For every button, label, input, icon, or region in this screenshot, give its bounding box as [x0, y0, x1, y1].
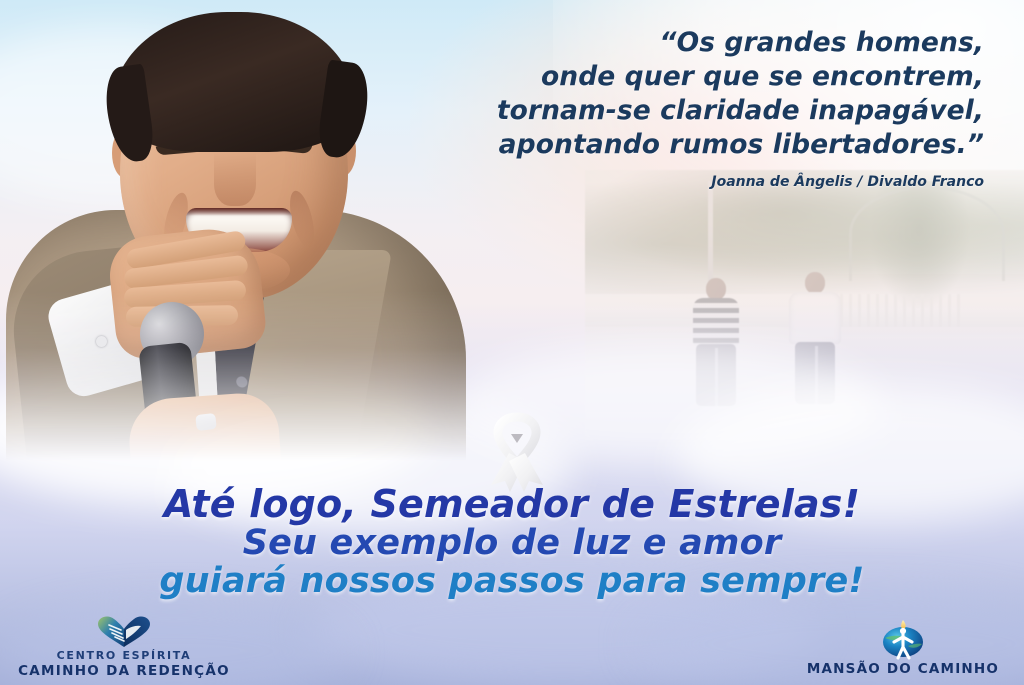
logo-right-line-1: MANSÃO DO CAMINHO [788, 661, 1018, 677]
logo-centro-espirita[interactable]: CENTRO ESPÍRITA CAMINHO DA REDENÇÃO [4, 614, 244, 679]
logo-left-line-2: CAMINHO DA REDENÇÃO [4, 663, 244, 679]
quote-line-1: “Os grandes homens, [424, 26, 984, 60]
quote-block: “Os grandes homens, onde quer que se enc… [424, 26, 984, 190]
quote-line-3: tornam-se claridade inapagável, [424, 94, 984, 128]
portrait-photo [0, 0, 470, 470]
headline-line-3: guiará nossos passos para sempre! [0, 562, 1024, 601]
logo-mansao-do-caminho[interactable]: MANSÃO DO CAMINHO [788, 616, 1018, 677]
headline-block: Até logo, Semeador de Estrelas! Seu exem… [0, 484, 1024, 601]
white-ribbon-icon [481, 409, 553, 493]
quote-line-2: onde quer que se encontrem, [424, 60, 984, 94]
quote-attribution: Joanna de Ângelis / Divaldo Franco [424, 174, 984, 190]
heart-hands-icon [96, 614, 152, 648]
logo-left-line-1: CENTRO ESPÍRITA [4, 649, 244, 662]
headline-line-2: Seu exemplo de luz e amor [0, 524, 1024, 562]
globe-figure-flame-icon [878, 616, 928, 660]
memorial-poster: “Os grandes homens, onde quer que se enc… [0, 0, 1024, 685]
quote-line-4: apontando rumos libertadores.” [424, 128, 984, 162]
headline-line-1: Até logo, Semeador de Estrelas! [0, 484, 1024, 524]
